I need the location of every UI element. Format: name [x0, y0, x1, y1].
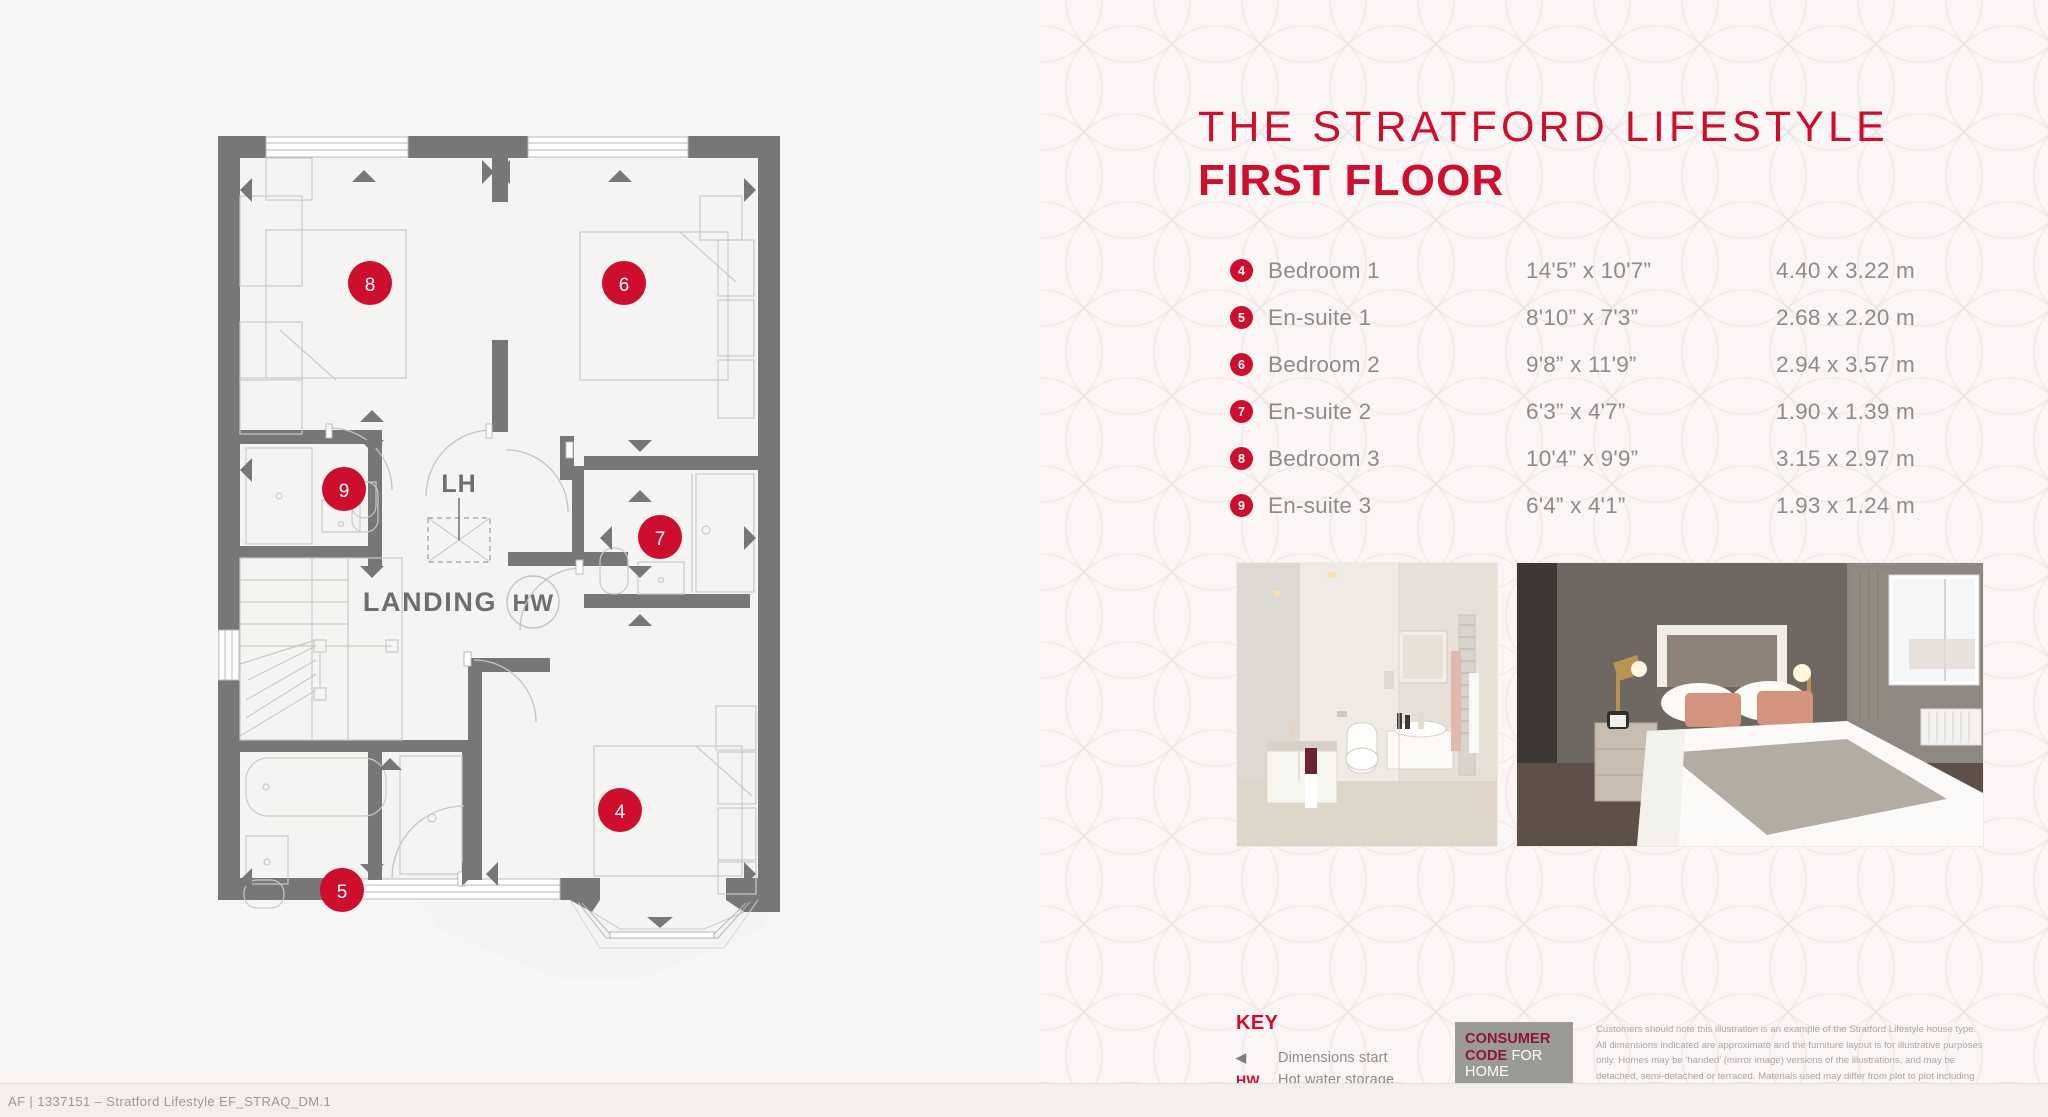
- footer-reference: AF | 1337151 – Stratford Lifestyle EF_ST…: [8, 1094, 331, 1109]
- room-name: Bedroom 2: [1268, 352, 1526, 378]
- hot-water-label: HW: [513, 590, 554, 617]
- room-badge: 5: [1230, 306, 1253, 329]
- bedroom-photo: [1516, 562, 1984, 847]
- room-imperial: 6'4” x 4'1”: [1526, 493, 1776, 519]
- title-floor: FIRST FLOOR: [1198, 156, 2018, 205]
- table-row: 5 En-suite 1 8'10” x 7'3” 2.68 x 2.20 m: [1230, 294, 2020, 341]
- consumer-code-code: CODE: [1465, 1048, 1507, 1064]
- room-name: Bedroom 1: [1268, 258, 1526, 284]
- room-metric: 4.40 x 3.22 m: [1776, 258, 1915, 284]
- room-imperial: 9'8” x 11'9”: [1526, 352, 1776, 378]
- room-imperial: 14'5” x 10'7”: [1526, 258, 1776, 284]
- room-imperial: 8'10” x 7'3”: [1526, 305, 1776, 331]
- loft-hatch-label: LH: [441, 470, 476, 498]
- page-title: THE STRATFORD LIFESTYLE FIRST FLOOR: [1198, 104, 2018, 206]
- dimension-arrow-icon: ◀: [1236, 1050, 1278, 1066]
- room-metric: 1.93 x 1.24 m: [1776, 493, 1915, 519]
- table-row: 4 Bedroom 1 14'5” x 10'7” 4.40 x 3.22 m: [1230, 247, 2020, 294]
- room-imperial: 6'3” x 4'7”: [1526, 399, 1776, 425]
- title-house-type: THE STRATFORD LIFESTYLE: [1198, 104, 2018, 150]
- plan-badge-7-label: 7: [655, 529, 666, 550]
- room-name: En-suite 2: [1268, 399, 1526, 425]
- consumer-code-line2: CODE FOR: [1465, 1048, 1573, 1065]
- room-name: Bedroom 3: [1268, 446, 1526, 472]
- table-row: 9 En-suite 3 6'4” x 4'1” 1.93 x 1.24 m: [1230, 482, 2020, 529]
- table-row: 8 Bedroom 3 10'4” x 9'9” 3.15 x 2.97 m: [1230, 435, 2020, 482]
- floor-plan-panel: 8 6 9: [0, 0, 1040, 1117]
- floorplan-page: 8 6 9: [0, 0, 2048, 1117]
- window-top-right: [528, 137, 688, 157]
- plan-badge-4-label: 4: [615, 802, 626, 823]
- table-row: 6 Bedroom 2 9'8” x 11'9” 2.94 x 3.57 m: [1230, 341, 2020, 388]
- info-panel: THE STRATFORD LIFESTYLE FIRST FLOOR 4 Be…: [1040, 0, 2048, 1117]
- room-metric: 2.94 x 3.57 m: [1776, 352, 1915, 378]
- plan-badge-9-label: 9: [339, 481, 350, 502]
- room-imperial: 10'4” x 9'9”: [1526, 446, 1776, 472]
- table-row: 7 En-suite 2 6'3” x 4'7” 1.90 x 1.39 m: [1230, 388, 2020, 435]
- consumer-code-for: FOR: [1511, 1048, 1542, 1064]
- plan-badge-5-label: 5: [337, 882, 348, 903]
- room-badge: 6: [1230, 353, 1253, 376]
- room-badge: 9: [1230, 494, 1253, 517]
- window-bottom-left: [348, 879, 560, 899]
- window-top-left: [266, 137, 408, 157]
- room-name: En-suite 1: [1268, 305, 1526, 331]
- room-dimensions-list: 4 Bedroom 1 14'5” x 10'7” 4.40 x 3.22 m …: [1230, 247, 2020, 529]
- room-name: En-suite 3: [1268, 493, 1526, 519]
- floor-plan-drawing: 8 6 9: [0, 0, 1040, 1117]
- window-left-stair: [219, 630, 239, 680]
- consumer-code-line1: CONSUMER: [1465, 1031, 1573, 1048]
- landing-label: LANDING: [363, 587, 497, 617]
- room-metric: 2.68 x 2.20 m: [1776, 305, 1915, 331]
- key-item-label: Dimensions start: [1278, 1050, 1388, 1066]
- room-metric: 3.15 x 2.97 m: [1776, 446, 1915, 472]
- room-badge: 7: [1230, 400, 1253, 423]
- consumer-code-badge: CONSUMER CODE FOR HOME BUILDERS: [1455, 1022, 1573, 1084]
- footer-bar: AF | 1337151 – Stratford Lifestyle EF_ST…: [0, 1083, 2048, 1117]
- room-badge: 4: [1230, 259, 1253, 282]
- bathroom-photo: [1236, 562, 1498, 847]
- room-metric: 1.90 x 1.39 m: [1776, 399, 1915, 425]
- plan-badge-8-label: 8: [365, 275, 376, 296]
- plan-badge-6-label: 6: [619, 275, 630, 296]
- room-badge: 8: [1230, 447, 1253, 470]
